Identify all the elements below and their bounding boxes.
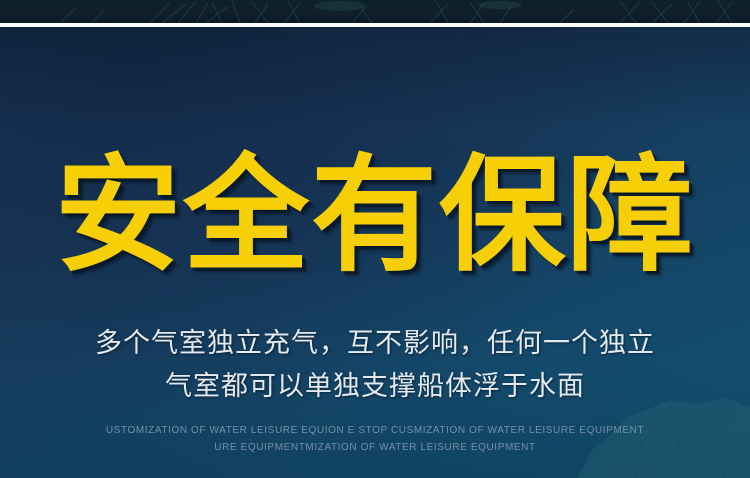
promo-banner: 安全有保障 多个气室独立充气，互不影响，任何一个独立 气室都可以单独支撑船体浮于… (0, 0, 750, 478)
subtitle-line-1: 多个气室独立充气，互不影响，任何一个独立 (0, 322, 750, 365)
subtitle-line-2: 气室都可以单独支撑船体浮于水面 (0, 365, 750, 408)
subtitle-block: 多个气室独立充气，互不影响，任何一个独立 气室都可以单独支撑船体浮于水面 (0, 322, 750, 408)
page-title: 安全有保障 (0, 145, 750, 287)
english-caption-line-1: USTOMIZATION OF WATER LEISURE EQUION E S… (0, 422, 750, 439)
reed-grass-icon (0, 0, 750, 23)
english-caption-block: USTOMIZATION OF WATER LEISURE EQUION E S… (0, 422, 750, 456)
content-panel: 安全有保障 多个气室独立充气，互不影响，任何一个独立 气室都可以单独支撑船体浮于… (0, 27, 750, 478)
english-caption-line-2: URE EQUIPMENTMIZATION OF WATER LEISURE E… (0, 439, 750, 456)
top-photo-strip (0, 0, 750, 23)
